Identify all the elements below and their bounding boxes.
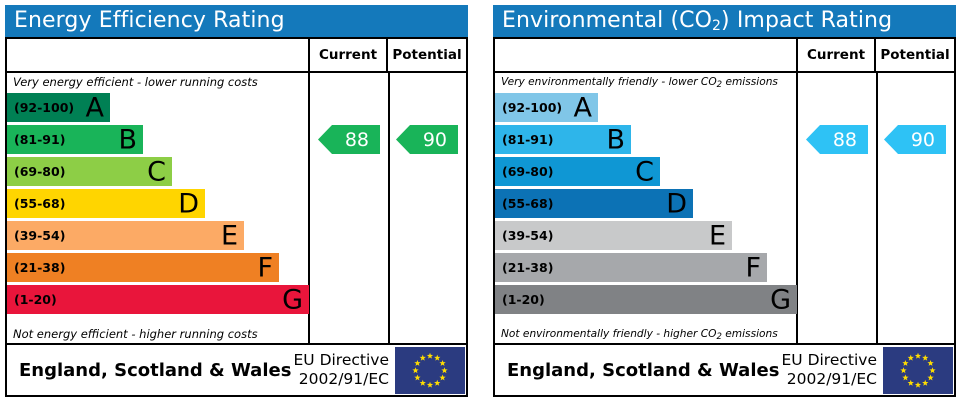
current-rating-column-co2: 88 — [798, 73, 876, 343]
footer-directive-energy: EU Directive 2002/91/EC — [294, 351, 396, 389]
band-letter-label: C — [635, 158, 654, 185]
footer-directive-line1-energy: EU Directive — [294, 351, 390, 370]
chart-body-co2: Current Potential Very environmentally f… — [493, 37, 956, 397]
header-current-energy: Current — [308, 39, 386, 71]
band-range-label: (81-91) — [7, 132, 65, 147]
band-range-label: (1-20) — [7, 292, 57, 307]
band-letter-label: B — [118, 126, 137, 153]
band-list-co2: (92-100)A(81-91)B(69-80)C(55-68)D(39-54)… — [495, 91, 796, 323]
header-potential-co2: Potential — [874, 39, 954, 71]
band-b-energy: (81-91)B — [7, 125, 143, 154]
band-d-co2: (55-68)D — [495, 189, 693, 218]
band-c-energy: (69-80)C — [7, 157, 172, 186]
current-rating-arrow-energy: 88 — [318, 125, 380, 154]
eu-flag-icon-energy — [395, 347, 465, 394]
footer-region-co2: England, Scotland & Wales — [495, 360, 782, 381]
band-g-energy: (1-20)G — [7, 285, 309, 314]
grid-area-energy: Very energy efficient - lower running co… — [7, 73, 466, 343]
current-rating-column-energy: 88 — [310, 73, 388, 343]
band-g-co2: (1-20)G — [495, 285, 797, 314]
band-letter-label: D — [178, 190, 199, 217]
potential-rating-value-co2: 90 — [911, 129, 935, 151]
footer-directive-co2: EU Directive 2002/91/EC — [782, 351, 884, 389]
footer-co2: England, Scotland & Wales EU Directive 2… — [495, 343, 954, 395]
header-current-co2: Current — [796, 39, 874, 71]
band-b-co2: (81-91)B — [495, 125, 631, 154]
bands-column-energy: Very energy efficient - lower running co… — [7, 73, 308, 343]
band-letter-label: F — [745, 254, 761, 281]
potential-rating-column-energy: 90 — [390, 73, 466, 343]
band-range-label: (92-100) — [495, 100, 562, 115]
caption-top-co2: Very environmentally friendly - lower CO… — [495, 73, 796, 91]
band-f-energy: (21-38)F — [7, 253, 279, 282]
band-letter-label: A — [574, 94, 592, 121]
eu-flag-icon-co2 — [883, 347, 953, 394]
band-a-energy: (92-100)A — [7, 93, 110, 122]
band-range-label: (69-80) — [7, 164, 65, 179]
caption-top-energy: Very energy efficient - lower running co… — [7, 73, 308, 91]
energy-efficiency-rating-chart: Energy Efficiency Rating Current Potenti… — [5, 5, 468, 399]
co2-subscript: 2 — [717, 80, 722, 90]
band-letter-label: D — [666, 190, 687, 217]
band-range-label: (55-68) — [7, 196, 65, 211]
band-range-label: (39-54) — [495, 228, 553, 243]
co2-subscript: 2 — [716, 332, 721, 342]
band-letter-label: F — [257, 254, 273, 281]
header-blank-cell-energy — [7, 39, 308, 71]
band-letter-label: E — [709, 222, 726, 249]
band-letter-label: A — [86, 94, 104, 121]
environmental-co2-impact-rating-chart: Environmental (CO2) Impact Rating Curren… — [493, 5, 956, 399]
potential-rating-value-energy: 90 — [423, 129, 447, 151]
band-range-label: (39-54) — [7, 228, 65, 243]
band-range-label: (55-68) — [495, 196, 553, 211]
epc-charts-page: Energy Efficiency Rating Current Potenti… — [0, 0, 957, 404]
current-rating-arrow-co2: 88 — [806, 125, 868, 154]
band-list-energy: (92-100)A(81-91)B(69-80)C(55-68)D(39-54)… — [7, 91, 308, 323]
header-blank-cell-co2 — [495, 39, 796, 71]
band-range-label: (92-100) — [7, 100, 74, 115]
potential-rating-column-co2: 90 — [878, 73, 954, 343]
band-letter-label: B — [606, 126, 625, 153]
co2-subscript: 2 — [712, 18, 721, 34]
bands-column-co2: Very environmentally friendly - lower CO… — [495, 73, 796, 343]
footer-directive-line2-energy: 2002/91/EC — [294, 370, 390, 389]
band-a-co2: (92-100)A — [495, 93, 598, 122]
header-potential-energy: Potential — [386, 39, 466, 71]
column-header-row-energy: Current Potential — [7, 39, 466, 73]
chart-title-co2: Environmental (CO2) Impact Rating — [493, 5, 956, 37]
band-range-label: (81-91) — [495, 132, 553, 147]
caption-bottom-energy: Not energy efficient - higher running co… — [7, 323, 308, 343]
current-rating-value-co2: 88 — [833, 129, 857, 151]
band-e-energy: (39-54)E — [7, 221, 244, 250]
footer-region-energy: England, Scotland & Wales — [7, 360, 294, 381]
band-range-label: (1-20) — [495, 292, 545, 307]
band-range-label: (21-38) — [495, 260, 553, 275]
band-c-co2: (69-80)C — [495, 157, 660, 186]
column-header-row-co2: Current Potential — [495, 39, 954, 73]
band-letter-label: C — [147, 158, 166, 185]
potential-rating-arrow-co2: 90 — [884, 125, 946, 154]
current-rating-value-energy: 88 — [345, 129, 369, 151]
caption-bottom-co2: Not environmentally friendly - higher CO… — [495, 323, 796, 343]
footer-energy: England, Scotland & Wales EU Directive 2… — [7, 343, 466, 395]
band-e-co2: (39-54)E — [495, 221, 732, 250]
footer-directive-line1-co2: EU Directive — [782, 351, 878, 370]
band-letter-label: G — [770, 286, 791, 313]
band-letter-label: E — [221, 222, 238, 249]
band-letter-label: G — [282, 286, 303, 313]
footer-directive-line2-co2: 2002/91/EC — [782, 370, 878, 389]
grid-area-co2: Very environmentally friendly - lower CO… — [495, 73, 954, 343]
band-d-energy: (55-68)D — [7, 189, 205, 218]
band-range-label: (69-80) — [495, 164, 553, 179]
band-f-co2: (21-38)F — [495, 253, 767, 282]
potential-rating-arrow-energy: 90 — [396, 125, 458, 154]
band-range-label: (21-38) — [7, 260, 65, 275]
chart-body-energy: Current Potential Very energy efficient … — [5, 37, 468, 397]
chart-title-energy: Energy Efficiency Rating — [5, 5, 468, 37]
